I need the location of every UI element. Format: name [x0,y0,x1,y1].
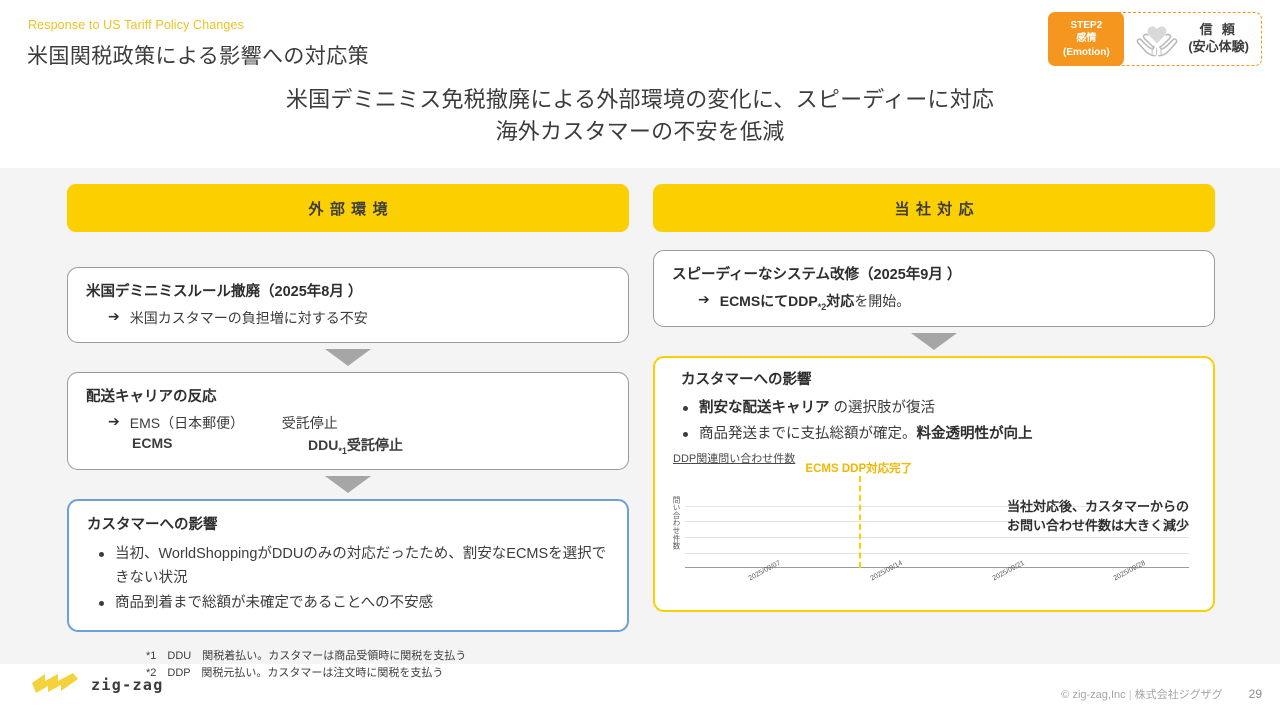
chart-ddp-inquiries: DDP関連問い合わせ件数 問い合わせ件数 ECMS DDP対応完了 当社対応後、… [671,450,1197,596]
card-deminimis-abolition: 米国デミニミスルール撤廃（2025年8月 ） ➔ 米国カスタマーの負担増に対する… [67,267,629,343]
card-detail-row: ➔ ECMSにてDDP*2対応を開始。 [672,291,1196,312]
chart-gridline [685,537,1189,538]
slide-root: Response to US Tariff Policy Changes 米国関… [0,0,1280,720]
bullet-rest: 商品発送までに支払総額が確定。 [699,426,917,442]
lead-line-2: 海外カスタマーの不安を低減 [0,116,1280,148]
arrow-right-icon: ➔ [108,308,120,328]
carrier-row-ems: ➔ EMS（日本郵便） 受託停止 [86,413,610,433]
card-system-update: スピーディーなシステム改修（2025年9月 ） ➔ ECMSにてDDP*2対応を… [653,250,1215,327]
list-item: 当初、WorldShoppingがDDUのみの対応だったため、割安なECMSを選… [87,543,609,590]
chart-annotation: 当社対応後、カスタマーからの お問い合わせ件数は大きく減少 [1007,498,1189,536]
arrow-right-icon: ➔ [698,291,710,312]
carrier-ecms-status: DDU*1受託停止 [308,435,403,456]
carrier-ecms-term: DDU [308,437,338,453]
footnote-ref-2: *2 [818,302,827,312]
step-badge-step: STEP2 [1070,19,1102,32]
list-item: 商品到着まで総額が未確定であることへの不安感 [87,592,609,615]
carrier-ecms-name: ECMS [132,435,308,456]
chart-title: DDP関連問い合わせ件数 [673,450,1197,466]
footer-separator: | [1129,689,1132,701]
footer-copyright-group: © zig-zag,Inc | 株式会社ジグザグ [1061,686,1222,702]
connector-triangle-2 [325,476,371,493]
lead-line-1: 米国デミニミス免税撤廃による外部環境の変化に、スピーディーに対応 [0,84,1280,116]
list-item: 割安な配送キャリア の選択肢が復活 [671,397,1197,420]
ddp-support: 対応 [826,293,854,309]
bullet-highlight: 割安な配送キャリア [699,400,830,416]
step-badge-outcome: 信 頼 (安心体験) [1118,12,1262,66]
carrier-ems-status: 受託停止 [282,413,338,433]
chart-annotation-line-1: 当社対応後、カスタマーからの [1007,498,1189,517]
footnote-ref-1: *1 [338,445,347,455]
card-detail-text: ECMSにてDDP*2対応を開始。 [720,291,911,312]
card-title: カスタマーへの影響 [671,370,1197,392]
footnote-2: *2 DDP 関税元払い。カスタマーは注文時に関税を支払う [146,665,466,682]
chart-marker-line [859,476,861,568]
hands-holding-heart-icon [1134,19,1180,59]
card-customer-impact-negative: カスタマーへの影響 当初、WorldShoppingがDDUのみの対応だったため… [67,499,629,631]
card-customer-impact-positive: カスタマーへの影響 割安な配送キャリア の選択肢が復活 商品発送までに支払総額が… [653,356,1215,613]
footer-copyright: © zig-zag,Inc [1061,689,1125,701]
page-title: 米国関税政策による影響への対応策 [27,40,369,70]
carrier-row-ecms: ECMS DDU*1受託停止 [86,435,610,456]
connector-triangle-3 [911,333,957,350]
column-heading-external: 外部環境 [67,184,629,232]
chart-marker-label: ECMS DDP対応完了 [805,460,912,476]
footnote-1: *1 DDU 関税着払い。カスタマーは商品受領時に関税を支払う [146,648,466,665]
chart-gridline [685,553,1189,554]
impact-bullet-list: 割安な配送キャリア の選択肢が復活 商品発送までに支払総額が確定。料金透明性が向… [671,397,1197,446]
chart-area: 問い合わせ件数 ECMS DDP対応完了 当社対応後、カスタマーからの お問い合… [671,468,1197,596]
card-carrier-reaction: 配送キャリアの反応 ➔ EMS（日本郵便） 受託停止 ECMS DDU*1受託停… [67,372,629,471]
column-heading-response: 当社対応 [653,184,1215,232]
chart-y-axis-label: 問い合わせ件数 [671,496,682,550]
card-title: スピーディーなシステム改修（2025年9月 ） [672,265,1196,287]
ddp-start: を開始。 [854,293,910,309]
footnotes: *1 DDU 関税着払い。カスタマーは商品受領時に関税を支払う *2 DDP 関… [146,648,466,682]
card-title: 米国デミニミスルール撤廃（2025年8月 ） [86,282,610,304]
carrier-ecms-status-text: 受託停止 [347,437,403,453]
step-badge-trust: 信 頼 [1188,22,1249,39]
card-detail-row: ➔ 米国カスタマーの負担増に対する不安 [86,308,610,328]
carrier-ems-name: EMS（日本郵便） [130,413,282,433]
zigzag-logo-icon [28,670,82,700]
step-badge-outcome-text: 信 頼 (安心体験) [1188,22,1249,56]
brand-logo-text: zig-zag [91,676,164,694]
chart-annotation-line-2: お問い合わせ件数は大きく減少 [1007,517,1189,536]
footer-meta: © zig-zag,Inc | 株式会社ジグザグ 29 [1061,686,1262,702]
column-our-response: 当社対応 スピーディーなシステム改修（2025年9月 ） ➔ ECMSにてDDP… [653,184,1215,612]
carrier-ems-pair: EMS（日本郵便） 受託停止 [130,413,338,433]
brand-logo: zig-zag [28,670,164,700]
lead-statement: 米国デミニミス免税撤廃による外部環境の変化に、スピーディーに対応 海外カスタマー… [0,84,1280,148]
chart-x-axis-ticks: 2025/09/072025/09/142025/09/212025/09/28 [685,568,1189,596]
list-item: 商品発送までに支払総額が確定。料金透明性が向上 [671,423,1197,446]
column-external-environment: 外部環境 米国デミニミスルール撤廃（2025年8月 ） ➔ 米国カスタマーの負担… [67,184,629,632]
arrow-right-icon: ➔ [108,413,120,433]
bullet-rest: の選択肢が復活 [830,400,936,416]
bullet-highlight: 料金透明性が向上 [917,426,1033,442]
step-badge-emotion-jp: 感情 [1076,32,1096,45]
connector-triangle-1 [325,349,371,366]
impact-bullet-list: 当初、WorldShoppingがDDUのみの対応だったため、割安なECMSを選… [87,543,609,615]
card-detail-text: 米国カスタマーの負担増に対する不安 [130,308,368,328]
footer-company: 株式会社ジグザグ [1135,689,1223,701]
card-title: カスタマーへの影響 [87,515,609,537]
step-badge: STEP2 感情 (Emotion) 信 頼 (安心体験) [1048,12,1262,66]
card-title: 配送キャリアの反応 [86,387,610,409]
page-number: 29 [1249,687,1262,701]
ddp-term: ECMSにてDDP [720,293,818,309]
step-badge-emotion-en: (Emotion) [1063,46,1110,59]
step-badge-trust-sub: (安心体験) [1188,39,1249,56]
step-badge-chip: STEP2 感情 (Emotion) [1048,12,1124,66]
header-eyebrow: Response to US Tariff Policy Changes [28,18,244,32]
